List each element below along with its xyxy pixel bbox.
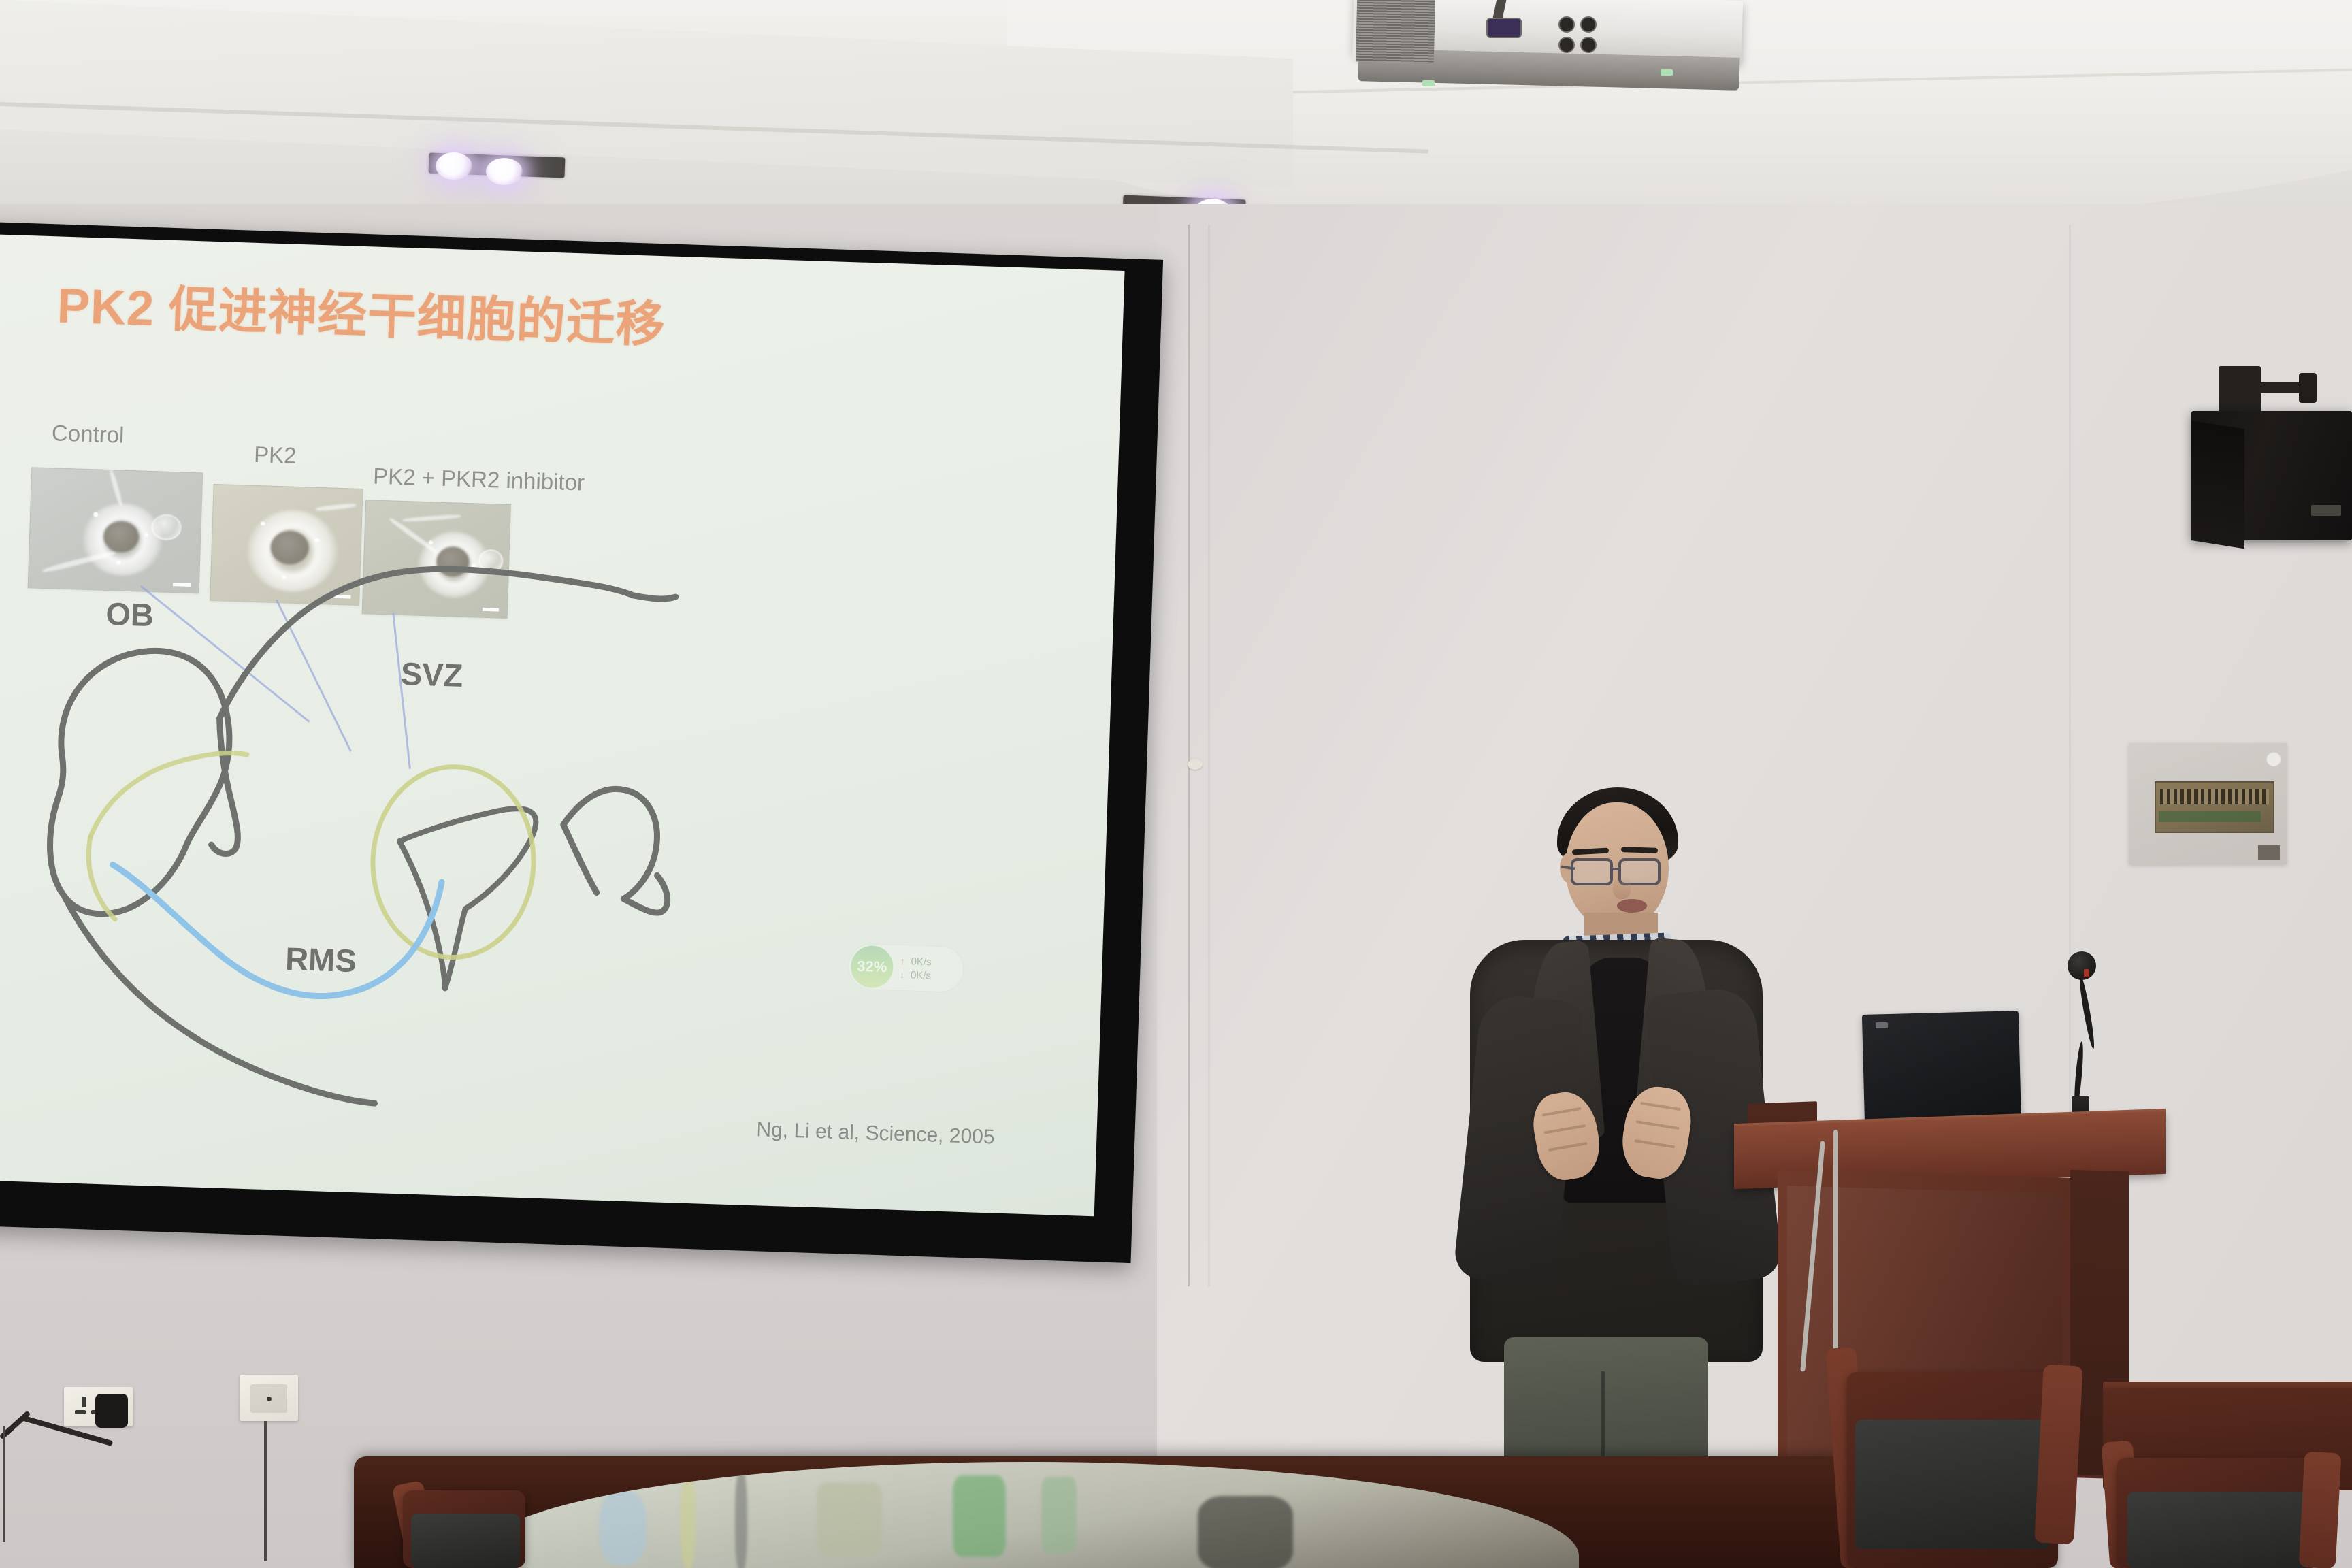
projected-slide: PK2 促进神经干细胞的迁移 Control PK2 PK2 + PKR2 in… — [0, 235, 1125, 1217]
lecture-hall-photo: PK2 促进神经干细胞的迁移 Control PK2 PK2 + PKR2 in… — [0, 0, 2352, 1568]
micrograph-panel-pk2 — [210, 484, 363, 606]
speaker-mount-bracket — [2219, 366, 2261, 415]
brain-label-svz: SVZ — [400, 655, 463, 694]
ceiling-light-bulb-1b — [486, 158, 523, 185]
presenter-finger — [1640, 1102, 1681, 1111]
wall-outlet-right-cable — [264, 1421, 267, 1561]
table-reflection-shape — [817, 1482, 882, 1557]
presenter-glasses-left-lens — [1571, 858, 1613, 885]
micrograph-panel-pk2-inhibitor — [362, 500, 511, 619]
micrograph-panel-control — [28, 467, 203, 593]
presenter-finger — [1543, 1124, 1586, 1134]
wall-outlet-left-slot-left — [75, 1410, 86, 1414]
wall-cable-clip — [1188, 759, 1203, 770]
projector-status-led-1 — [1422, 80, 1435, 86]
panel-label-control: Control — [51, 420, 125, 448]
presenter-finger — [1548, 1142, 1588, 1151]
micrograph-wisp — [402, 514, 461, 522]
wall-seam-vertical-2 — [1208, 225, 1210, 1286]
brain-schematic — [0, 235, 1125, 1217]
panel-label-pk2: PK2 — [254, 442, 297, 469]
micrograph-wisp — [108, 469, 123, 507]
download-rate-value: 0K/s — [911, 969, 932, 981]
table-reflection-shape — [953, 1475, 1006, 1557]
slide-citation: Ng, Li et al, Science, 2005 — [756, 1118, 995, 1149]
chair-right-2-top-rail — [2299, 1452, 2342, 1568]
upload-rate-value: 0K/s — [911, 955, 932, 968]
micrograph-scale-bar — [173, 583, 191, 587]
leader-line-pk2 — [276, 600, 352, 752]
wall-outlet-right-pinhole — [267, 1396, 272, 1401]
table-reflection-shape — [1041, 1477, 1077, 1553]
projector-audio-port-1 — [1558, 16, 1575, 33]
projector-vga-port — [1486, 18, 1522, 38]
network-speed-widget[interactable]: 32% ↑ 0K/s ↓ 0K/s — [847, 943, 964, 992]
micrograph-bubble — [151, 514, 182, 540]
projector-vent-grille — [1352, 0, 1435, 63]
microphone-indicator-icon — [2084, 969, 2089, 977]
speaker-mount-knob — [2299, 373, 2317, 403]
microphone-head — [2068, 951, 2096, 980]
wall-control-panel-tab — [2258, 845, 2280, 860]
projector-audio-port-3 — [1580, 16, 1597, 33]
wall-speaker-badge — [2311, 505, 2341, 516]
micrograph-scale-bar — [333, 595, 350, 599]
presenter-finger — [1634, 1139, 1675, 1148]
projector-audio-port-2 — [1558, 37, 1575, 53]
wall-control-panel-green-band — [2159, 811, 2261, 822]
projector-status-led-2 — [1661, 69, 1673, 76]
table-reflection-shape — [735, 1470, 747, 1568]
wall-seam-vertical — [1188, 225, 1190, 1286]
brain-label-rms: RMS — [284, 940, 357, 979]
network-rates: ↑ 0K/s ↓ 0K/s — [900, 955, 932, 981]
laptop-logo-icon — [1876, 1022, 1888, 1028]
table-reflection-shape — [1198, 1496, 1293, 1568]
projector-audio-port-4 — [1580, 37, 1597, 53]
upload-arrow-icon: ↑ — [900, 955, 905, 966]
network-usage-donut: 32% — [850, 945, 894, 989]
wall-speaker-side-face — [2191, 421, 2244, 549]
network-download-row: ↓ 0K/s — [900, 968, 932, 981]
wall-control-panel-indicator-icon — [2266, 751, 2281, 766]
micrograph-wisp — [316, 503, 357, 512]
wall-outlet-cable-drop — [3, 1426, 5, 1542]
projection-screen: PK2 促进神经干细胞的迁移 Control PK2 PK2 + PKR2 in… — [0, 222, 1163, 1267]
micrograph-scale-bar — [483, 608, 499, 612]
leader-line-control — [140, 585, 310, 723]
wall-outlet-plug[interactable] — [95, 1394, 128, 1428]
presenter-glasses-bridge — [1613, 868, 1621, 870]
download-arrow-icon: ↓ — [900, 969, 905, 980]
ceiling-light-bulb-1a — [436, 152, 472, 180]
panel-label-pk2-inhibitor: PK2 + PKR2 inhibitor — [373, 463, 585, 496]
presenter — [1443, 772, 1783, 1473]
chair-left-backrest-pad — [411, 1514, 520, 1568]
wall-outlet-left-slot-top — [82, 1396, 86, 1407]
slide-title: PK2 促进神经干细胞的迁移 — [56, 265, 667, 356]
micrograph-bubble — [478, 549, 504, 573]
table-reflection-shape — [681, 1474, 696, 1568]
presenter-nose — [1613, 876, 1631, 899]
presenter-finger — [1636, 1120, 1680, 1130]
chair-right-2-backrest-pad — [2127, 1492, 2318, 1568]
table-reflection-shape — [599, 1490, 647, 1565]
network-upload-row: ↑ 0K/s — [900, 955, 932, 967]
chair-right-1-backrest-pad — [1855, 1420, 2050, 1549]
wall-control-panel-text-row — [2160, 789, 2269, 804]
presenter-mouth — [1617, 899, 1647, 913]
brain-label-ob: OB — [105, 595, 154, 634]
presenter-finger — [1542, 1107, 1582, 1117]
